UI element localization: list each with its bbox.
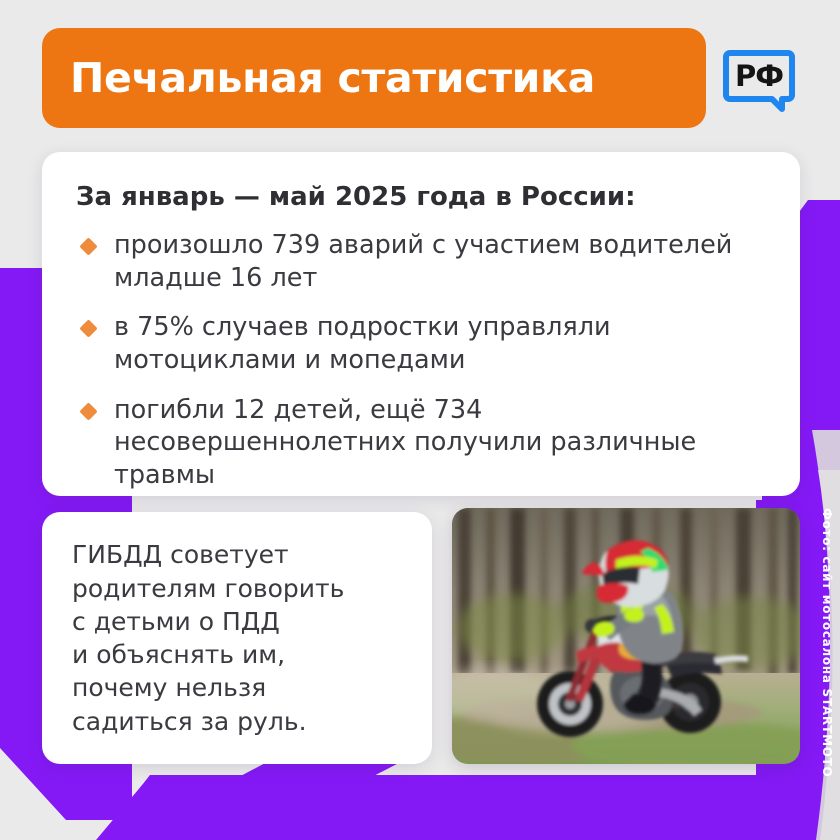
list-item-text: в 75% случаев подростки управляли мотоци… (114, 312, 611, 375)
motorcycle-photo (452, 508, 800, 764)
list-item: в 75% случаев подростки управляли мотоци… (76, 311, 766, 376)
photo-credit-text: Фото: сайт мотосалона STARTMOTO (820, 508, 834, 777)
rf-logo-text: РФ (720, 39, 798, 117)
list-item-text: погибли 12 детей, ещё 734 несовершенноле… (114, 395, 696, 490)
advice-text: ГИБДД советует родителям говорить с деть… (72, 538, 344, 738)
statistics-heading: За январь — май 2025 года в России: (76, 182, 766, 213)
advice-card: ГИБДД советует родителям говорить с деть… (42, 512, 432, 764)
list-item: произошло 739 аварий с участием водителе… (76, 229, 766, 294)
list-item-text: произошло 739 аварий с участием водителе… (114, 230, 732, 293)
page-title: Печальная статистика (70, 58, 595, 99)
title-banner: Печальная статистика (42, 28, 706, 128)
diamond-bullet-icon (79, 237, 97, 255)
diamond-bullet-icon (79, 320, 97, 338)
rf-speech-bubble-logo: РФ (720, 39, 798, 117)
statistics-list: произошло 739 аварий с участием водителе… (76, 229, 766, 491)
photo-credit: Фото: сайт мотосалона STARTMOTO (814, 508, 840, 808)
list-item: погибли 12 детей, ещё 734 несовершенноле… (76, 394, 766, 492)
diamond-bullet-icon (79, 402, 97, 420)
statistics-card: За январь — май 2025 года в России: прои… (42, 152, 800, 496)
header: Печальная статистика РФ (42, 28, 798, 128)
infographic-poster: Печальная статистика РФ За январь — май … (0, 0, 840, 840)
